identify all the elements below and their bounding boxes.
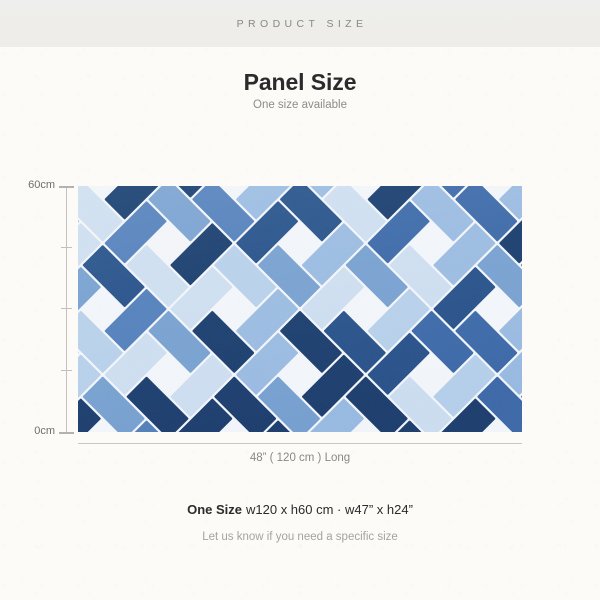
vertical-axis-cap-bottom bbox=[59, 432, 74, 434]
vertical-axis-cap-top bbox=[59, 186, 74, 188]
vertical-axis-line bbox=[66, 186, 67, 433]
footer-size-summary: One Sizew120 x h60 cm · w47” x h24” bbox=[0, 502, 600, 517]
footer-note: Let us know if you need a specific size bbox=[0, 531, 600, 543]
page-title: Panel Size bbox=[0, 69, 600, 96]
horizontal-axis-line bbox=[78, 443, 522, 444]
horizontal-axis-label: 48” ( 120 cm ) Long bbox=[78, 452, 522, 464]
footer-size-value: w120 x h60 cm · w47” x h24” bbox=[246, 502, 413, 517]
vertical-axis-max-label: 60cm bbox=[0, 179, 55, 191]
footer-size-label: One Size bbox=[187, 502, 242, 517]
vertical-axis-tick bbox=[61, 308, 72, 309]
herringbone-pattern-svg bbox=[78, 186, 522, 432]
herringbone-tile-panel-image bbox=[78, 186, 522, 432]
header-band: PRODUCT SIZE bbox=[0, 0, 600, 47]
vertical-axis-min-label: 0cm bbox=[0, 425, 55, 437]
page-eyebrow-title: PRODUCT SIZE bbox=[233, 18, 368, 30]
vertical-axis-tick bbox=[61, 370, 72, 371]
vertical-axis-tick bbox=[61, 247, 72, 248]
page-subtitle: One size available bbox=[0, 99, 600, 111]
